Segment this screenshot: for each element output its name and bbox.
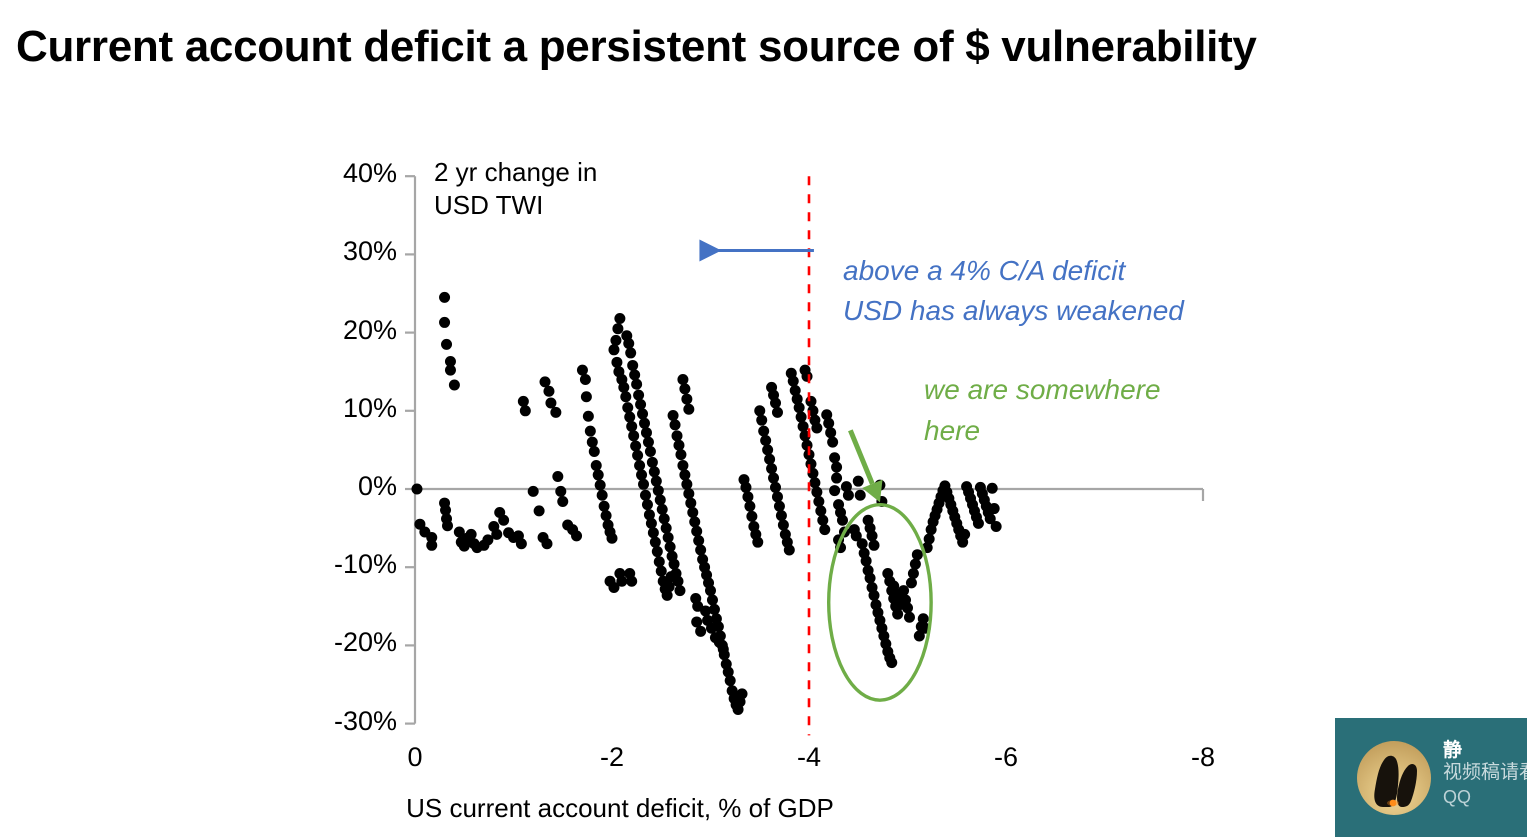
data-point xyxy=(661,523,672,534)
data-point xyxy=(774,501,785,512)
watermark-username: 静 xyxy=(1443,740,1527,761)
data-point xyxy=(677,460,688,471)
data-point xyxy=(545,397,556,408)
data-point xyxy=(518,396,529,407)
data-point xyxy=(449,379,460,390)
data-point xyxy=(543,386,554,397)
data-point xyxy=(541,538,552,549)
data-point xyxy=(718,644,729,655)
data-point xyxy=(585,426,596,437)
data-point xyxy=(869,540,880,551)
data-point xyxy=(829,485,840,496)
data-point xyxy=(695,626,706,637)
annotation-blue-note: above a 4% C/A deficit USD has always we… xyxy=(843,251,1184,331)
data-point xyxy=(581,391,592,402)
data-point xyxy=(912,549,923,560)
data-point xyxy=(805,396,816,407)
data-point xyxy=(642,499,653,510)
slide-canvas: Current account deficit a persistent sou… xyxy=(0,0,1527,837)
data-point xyxy=(426,540,437,551)
data-point xyxy=(650,537,661,548)
data-point xyxy=(985,513,996,524)
data-point xyxy=(675,449,686,460)
data-point xyxy=(778,519,789,530)
data-point xyxy=(624,412,635,423)
x-axis-tick-label: -6 xyxy=(976,742,1036,773)
data-point xyxy=(411,484,422,495)
data-point xyxy=(837,515,848,526)
data-point xyxy=(645,446,656,457)
data-point xyxy=(825,427,836,438)
data-point xyxy=(691,616,702,627)
data-point xyxy=(805,458,816,469)
data-point xyxy=(655,494,666,505)
data-point xyxy=(802,440,813,451)
data-point xyxy=(679,469,690,480)
data-point xyxy=(630,440,641,451)
data-point xyxy=(695,544,706,555)
data-point xyxy=(643,437,654,448)
y-axis-title: 2 yr change in USD TWI xyxy=(434,156,597,223)
data-point xyxy=(817,515,828,526)
data-point xyxy=(770,397,781,408)
data-point xyxy=(677,374,688,385)
data-point xyxy=(663,532,674,543)
data-point xyxy=(611,357,622,368)
data-point xyxy=(898,585,909,596)
data-point xyxy=(683,404,694,415)
data-point xyxy=(687,507,698,518)
data-point xyxy=(540,376,551,387)
data-point xyxy=(498,515,509,526)
data-point xyxy=(831,473,842,484)
data-point xyxy=(811,487,822,498)
green-arrow-shaft xyxy=(850,430,872,483)
data-point xyxy=(819,524,830,535)
data-point xyxy=(491,529,502,540)
data-point xyxy=(742,491,753,502)
y-axis-tick-label: 20% xyxy=(307,315,397,346)
x-axis-tick-label: -8 xyxy=(1173,742,1233,773)
data-point xyxy=(580,374,591,385)
data-point xyxy=(815,505,826,516)
data-point xyxy=(772,491,783,502)
data-point xyxy=(652,546,663,557)
data-point xyxy=(571,530,582,541)
data-point xyxy=(656,566,667,577)
data-point xyxy=(607,533,618,544)
data-point xyxy=(746,511,757,522)
blue-arrow-head xyxy=(699,239,721,261)
data-point xyxy=(634,460,645,471)
data-point xyxy=(762,444,773,455)
penguin-icon xyxy=(1357,741,1431,815)
data-point xyxy=(706,623,717,634)
data-point xyxy=(788,376,799,387)
data-point xyxy=(659,513,670,524)
data-point xyxy=(802,371,813,382)
data-point xyxy=(672,576,683,587)
data-point xyxy=(798,421,809,432)
data-point xyxy=(681,394,692,405)
data-point xyxy=(635,399,646,410)
data-point xyxy=(648,527,659,538)
avatar xyxy=(1357,741,1431,815)
data-point xyxy=(756,415,767,426)
data-point xyxy=(861,555,872,566)
data-points-layer xyxy=(411,292,1001,715)
data-point xyxy=(768,473,779,484)
data-point xyxy=(752,537,763,548)
data-point xyxy=(959,529,970,540)
x-axis-tick-label: -2 xyxy=(582,742,642,773)
watermark-subtitle: 视频稿请看 xyxy=(1443,761,1527,785)
data-point xyxy=(608,582,619,593)
data-point xyxy=(618,382,629,393)
y-axis-tick-label: 30% xyxy=(307,236,397,267)
data-point xyxy=(904,612,915,623)
data-point xyxy=(692,601,703,612)
data-point xyxy=(441,339,452,350)
data-point xyxy=(886,657,897,668)
y-axis-tick-label: 0% xyxy=(307,471,397,502)
data-point xyxy=(638,479,649,490)
data-point xyxy=(869,590,880,601)
data-point xyxy=(610,335,621,346)
watermark-overlay: 静 视频稿请看 QQ xyxy=(1335,718,1527,837)
data-point xyxy=(796,412,807,423)
data-point xyxy=(622,402,633,413)
data-point xyxy=(827,437,838,448)
data-point xyxy=(809,477,820,488)
chart-plot-area xyxy=(0,0,1527,837)
data-point xyxy=(631,379,642,390)
data-point xyxy=(550,407,561,418)
data-point xyxy=(811,423,822,434)
data-point xyxy=(689,516,700,527)
data-point xyxy=(628,430,639,441)
data-point xyxy=(442,520,453,531)
data-point xyxy=(772,407,783,418)
data-point xyxy=(649,466,660,477)
data-point xyxy=(823,418,834,429)
data-point xyxy=(629,369,640,380)
data-point xyxy=(740,482,751,493)
data-point xyxy=(555,486,566,497)
data-point xyxy=(640,490,651,501)
data-point xyxy=(591,460,602,471)
data-point xyxy=(445,365,456,376)
data-point xyxy=(853,476,864,487)
data-point xyxy=(669,559,680,570)
data-point xyxy=(685,498,696,509)
data-point xyxy=(902,602,913,613)
data-point xyxy=(813,496,824,507)
y-axis-tick-label: -10% xyxy=(307,549,397,580)
data-point xyxy=(633,390,644,401)
data-point xyxy=(829,452,840,463)
data-point xyxy=(670,419,681,430)
data-point xyxy=(654,556,665,567)
data-point xyxy=(665,541,676,552)
data-point xyxy=(639,418,650,429)
data-point xyxy=(647,457,658,468)
y-axis-tick-label: 10% xyxy=(307,393,397,424)
data-point xyxy=(439,317,450,328)
data-point xyxy=(707,595,718,606)
data-point xyxy=(918,613,929,624)
scatter-chart: 40%30%20%10%0%-10%-20%-30% 0-2-4-6-8 2 y… xyxy=(0,0,1527,837)
data-point xyxy=(973,518,984,529)
data-point xyxy=(831,462,842,473)
data-point xyxy=(691,526,702,537)
data-point xyxy=(520,405,531,416)
annotation-green-note: we are somewhere here xyxy=(924,370,1161,451)
data-point xyxy=(528,486,539,497)
data-point xyxy=(989,503,1000,514)
data-point xyxy=(641,427,652,438)
data-point xyxy=(857,538,868,549)
data-point xyxy=(653,485,664,496)
data-point xyxy=(587,437,598,448)
watermark-text-block: 静 视频稿请看 QQ xyxy=(1443,740,1527,810)
data-point xyxy=(534,505,545,516)
data-point xyxy=(892,609,903,620)
data-point xyxy=(636,469,647,480)
data-point xyxy=(620,391,631,402)
data-point xyxy=(601,510,612,521)
data-point xyxy=(516,538,527,549)
data-point xyxy=(843,490,854,501)
data-point xyxy=(758,426,769,437)
data-point xyxy=(725,675,736,686)
data-point xyxy=(612,323,623,334)
data-point xyxy=(632,450,643,461)
data-point xyxy=(776,510,787,521)
x-axis-tick-label: -4 xyxy=(779,742,839,773)
data-point xyxy=(693,535,704,546)
data-point xyxy=(668,410,679,421)
data-point xyxy=(672,430,683,441)
x-axis-title: US current account deficit, % of GDP xyxy=(0,793,1240,824)
data-point xyxy=(924,534,935,545)
data-point xyxy=(552,471,563,482)
data-point xyxy=(906,577,917,588)
data-point xyxy=(705,585,716,596)
data-point xyxy=(608,344,619,355)
data-point xyxy=(744,501,755,512)
data-point xyxy=(597,490,608,501)
y-axis-tick-label: -30% xyxy=(307,706,397,737)
data-point xyxy=(681,479,692,490)
data-point xyxy=(855,490,866,501)
data-point xyxy=(593,469,604,480)
data-point xyxy=(646,518,657,529)
data-point xyxy=(673,440,684,451)
data-point xyxy=(557,496,568,507)
data-point xyxy=(674,585,685,596)
data-point xyxy=(764,454,775,465)
data-point xyxy=(760,435,771,446)
data-point xyxy=(439,292,450,303)
data-point xyxy=(867,530,878,541)
data-point xyxy=(651,476,662,487)
data-point xyxy=(910,559,921,570)
data-point xyxy=(627,360,638,371)
data-point xyxy=(770,482,781,493)
data-point xyxy=(599,501,610,512)
data-point xyxy=(626,421,637,432)
data-point xyxy=(595,480,606,491)
data-point xyxy=(784,544,795,555)
data-point xyxy=(583,411,594,422)
data-point xyxy=(865,573,876,584)
data-point xyxy=(614,313,625,324)
data-point xyxy=(908,568,919,579)
y-axis-tick-label: -20% xyxy=(307,627,397,658)
data-point xyxy=(626,576,637,587)
x-axis-tick-label: 0 xyxy=(385,742,445,773)
data-point xyxy=(683,488,694,499)
data-point xyxy=(987,483,998,494)
y-axis-tick-label: 40% xyxy=(307,158,397,189)
data-point xyxy=(466,529,477,540)
data-point xyxy=(623,338,634,349)
data-point xyxy=(754,405,765,416)
data-point xyxy=(637,408,648,419)
data-point xyxy=(657,504,668,515)
data-point xyxy=(625,347,636,358)
data-point xyxy=(794,402,805,413)
watermark-platform: QQ xyxy=(1443,785,1527,810)
data-point xyxy=(589,446,600,457)
data-point xyxy=(737,688,748,699)
data-point xyxy=(577,365,588,376)
data-point xyxy=(679,383,690,394)
data-point xyxy=(766,463,777,474)
